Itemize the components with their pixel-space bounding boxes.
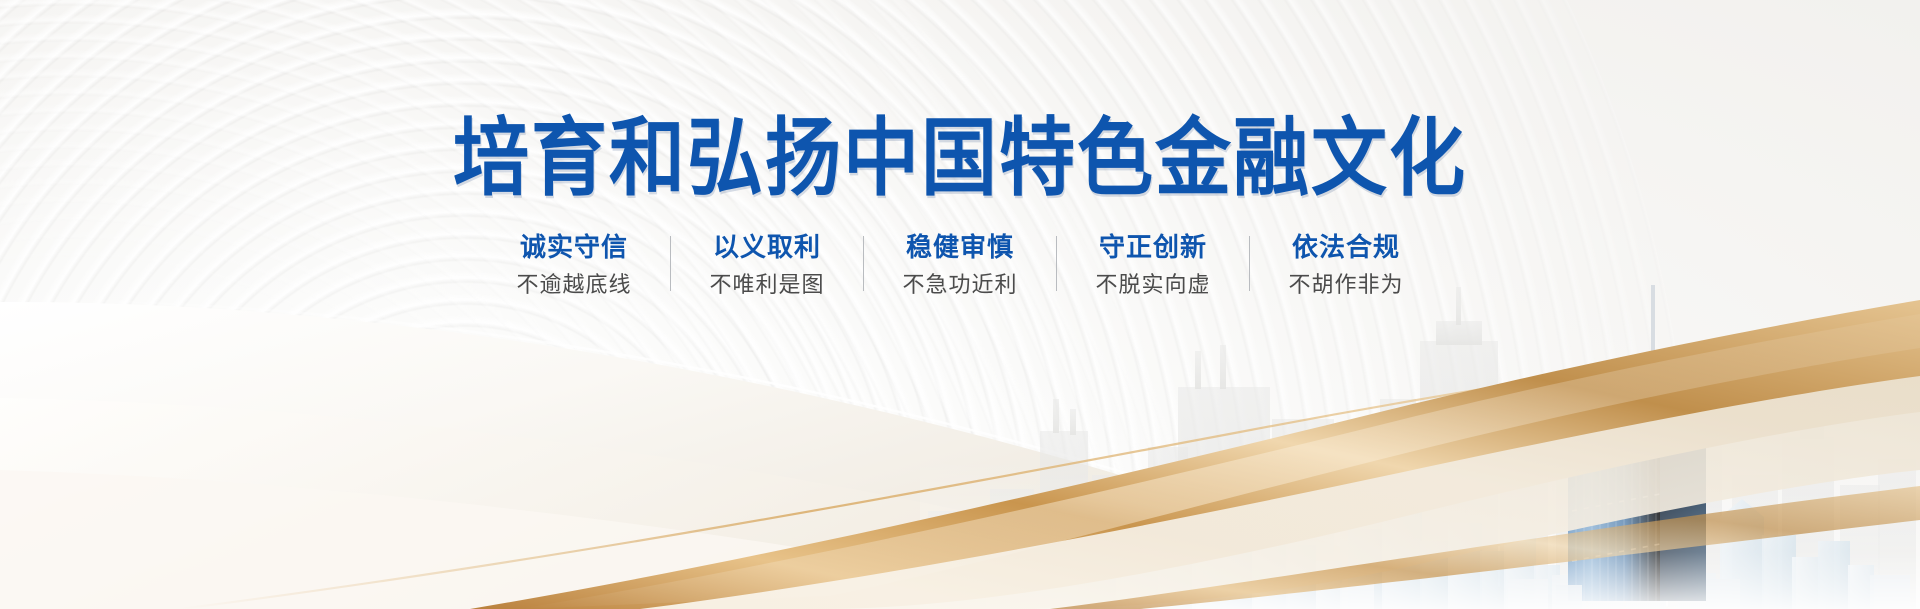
pillar-subline: 不胡作非为 — [1288, 272, 1403, 297]
page-title: 培育和弘扬中国特色金融文化 — [453, 117, 1467, 202]
pillar-headline: 守正创新 — [1099, 233, 1207, 262]
pillar-headline: 依法合规 — [1292, 233, 1400, 262]
pillar-headline: 诚实守信 — [520, 233, 628, 262]
pillar-subline: 不脱实向虚 — [1095, 272, 1210, 297]
pillar-subline: 不唯利是图 — [709, 272, 824, 297]
pillar-subline: 不逾越底线 — [516, 272, 631, 297]
pillar-item: 以义取利 不唯利是图 — [671, 233, 863, 297]
pillar-headline: 以义取利 — [713, 233, 821, 262]
banner-content: 培育和弘扬中国特色金融文化 诚实守信 不逾越底线 以义取利 不唯利是图 稳健审慎… — [0, 0, 1920, 609]
pillar-headline: 稳健审慎 — [906, 233, 1014, 262]
pillar-subline: 不急功近利 — [902, 272, 1017, 297]
pillar-item: 稳健审慎 不急功近利 — [864, 233, 1056, 297]
pillar-item: 依法合规 不胡作非为 — [1250, 233, 1442, 297]
banner-root: 培育和弘扬中国特色金融文化 诚实守信 不逾越底线 以义取利 不唯利是图 稳健审慎… — [0, 0, 1920, 609]
pillar-item: 诚实守信 不逾越底线 — [478, 233, 670, 297]
pillar-list: 诚实守信 不逾越底线 以义取利 不唯利是图 稳健审慎 不急功近利 守正创新 不脱… — [478, 233, 1442, 297]
pillar-item: 守正创新 不脱实向虚 — [1057, 233, 1249, 297]
